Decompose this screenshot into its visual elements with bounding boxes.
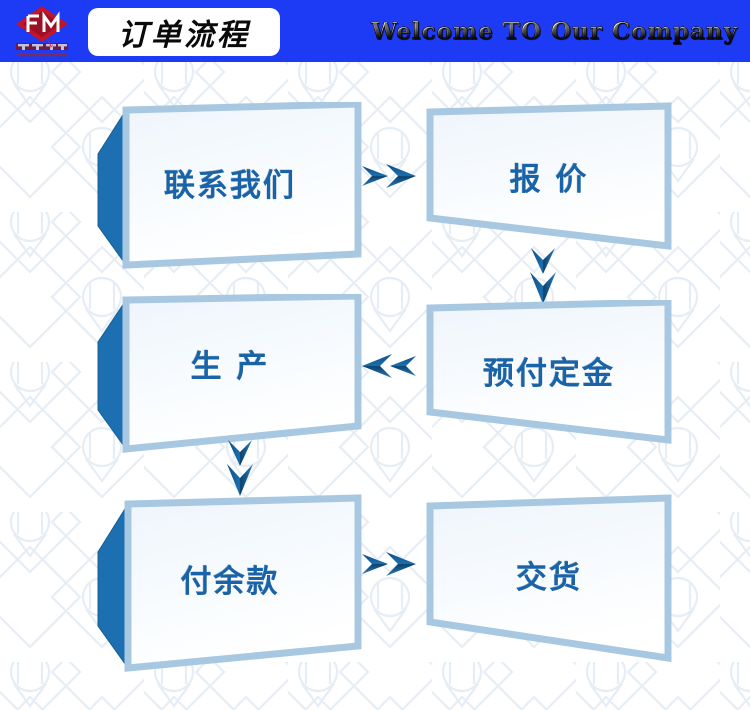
arrow-pay-balance-to-delivery-icon [358, 542, 430, 586]
order-process-flowchart: 联系我们 [0, 62, 750, 710]
arrow-deposit-to-production-icon [358, 344, 430, 388]
flow-node-delivery[interactable]: 交货 [424, 494, 674, 666]
page-header: 订单流程 Welcome TO Our Company [0, 0, 750, 62]
welcome-banner-text: Welcome TO Our Company [371, 18, 738, 45]
page-title: 订单流程 [118, 10, 250, 54]
flow-node-pay-balance[interactable]: 付余款 [96, 494, 364, 676]
flow-node-quotation[interactable]: 报 价 [424, 102, 674, 254]
flow-node-production[interactable]: 生 产 [96, 294, 364, 456]
arrow-contact-to-quotation-icon [358, 154, 430, 198]
flow-node-prepaid-deposit[interactable]: 预付定金 [424, 300, 674, 448]
fm-diamond-logo-icon [6, 2, 78, 62]
page-title-pill: 订单流程 [88, 8, 280, 56]
flow-node-contact-us[interactable]: 联系我们 [96, 102, 364, 274]
